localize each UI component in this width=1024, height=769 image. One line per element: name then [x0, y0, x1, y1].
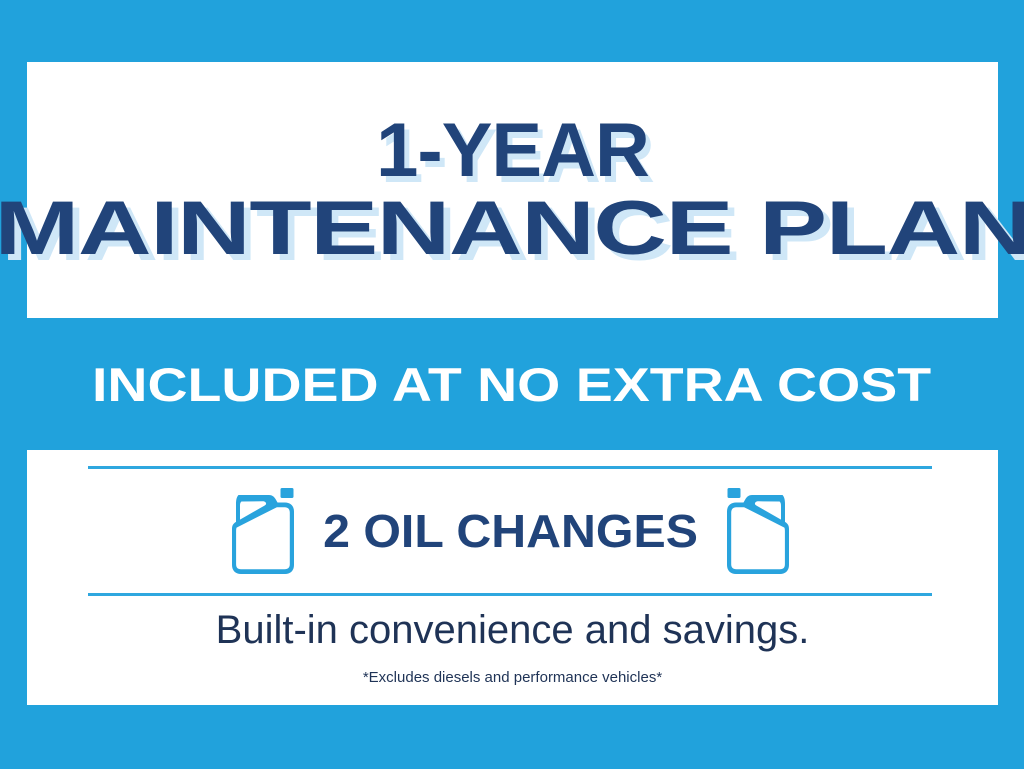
divider-bottom	[88, 593, 932, 596]
oil-can-icon	[723, 485, 793, 577]
fineprint-disclaimer: *Excludes diesels and performance vehicl…	[27, 669, 998, 686]
tagline: Built-in convenience and savings.	[27, 608, 998, 653]
oil-can-icon	[228, 485, 298, 577]
subtitle-band: INCLUDED AT NO EXTRA COST	[0, 318, 1024, 450]
feature-row: 2 OIL CHANGES	[88, 469, 932, 593]
headline-card: 1-YEAR MAINTENANCE PLAN	[27, 62, 998, 318]
headline-line-1: 1-YEAR	[376, 114, 649, 188]
subtitle-text: INCLUDED AT NO EXTRA COST	[92, 357, 931, 412]
promo-graphic: 1-YEAR MAINTENANCE PLAN INCLUDED AT NO E…	[0, 0, 1024, 769]
headline-line-2: MAINTENANCE PLAN	[0, 192, 1024, 266]
feature-label: 2 OIL CHANGES	[323, 504, 698, 558]
details-card: 2 OIL CHANGES Built-in convenience and s…	[27, 450, 998, 705]
